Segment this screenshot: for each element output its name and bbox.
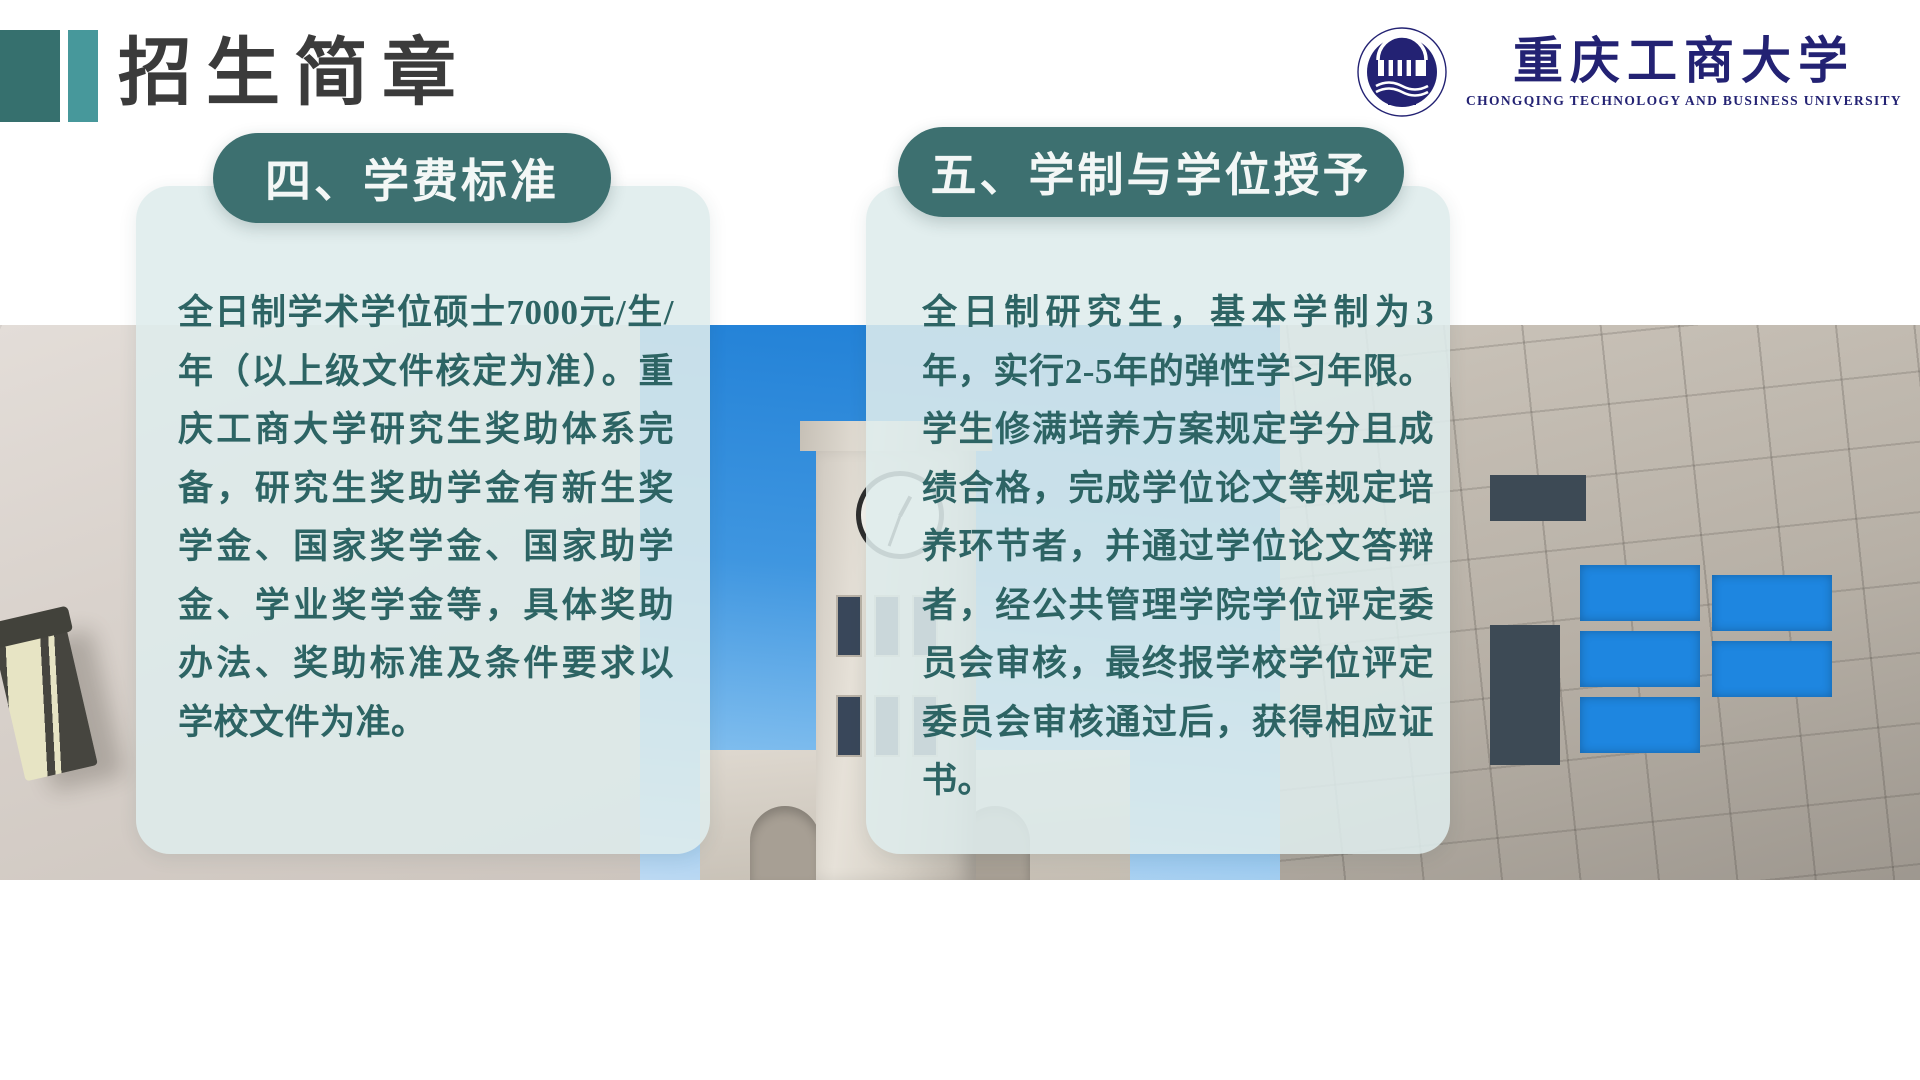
degree-system-body-text: 全日制研究生，基本学制为3年，实行2-5年的弹性学习年限。学生修满培养方案规定学… [922, 284, 1434, 811]
university-wordmark: 重庆工商大学 CHONGQING TECHNOLOGY AND BUSINESS… [1466, 33, 1902, 111]
degree-system-heading-label: 五、学制与学位授予 [931, 139, 1372, 205]
tuition-section-heading: 四、学费标准 [213, 133, 611, 223]
page-title: 招生简章 [118, 22, 470, 127]
tuition-heading-label: 四、学费标准 [265, 145, 559, 211]
university-seal-icon [1356, 26, 1448, 118]
tuition-body-text: 全日制学术学位硕士7000元/生/年（以上级文件核定为准）。重庆工商大学研究生奖… [178, 284, 674, 752]
university-name-en: CHONGQING TECHNOLOGY AND BUSINESS UNIVER… [1466, 91, 1902, 111]
university-logo: 重庆工商大学 CHONGQING TECHNOLOGY AND BUSINESS… [1356, 24, 1902, 120]
degree-system-section-heading: 五、学制与学位授予 [898, 127, 1404, 217]
university-name-cn: 重庆工商大学 [1513, 33, 1855, 89]
wall-lamp [0, 619, 98, 782]
archway [750, 806, 820, 880]
title-accent-bar-dark [0, 30, 60, 122]
title-accent-bar-light [68, 30, 98, 122]
slide-page: 招生简章 重庆工商大学 CHONGQ [0, 0, 1920, 1080]
